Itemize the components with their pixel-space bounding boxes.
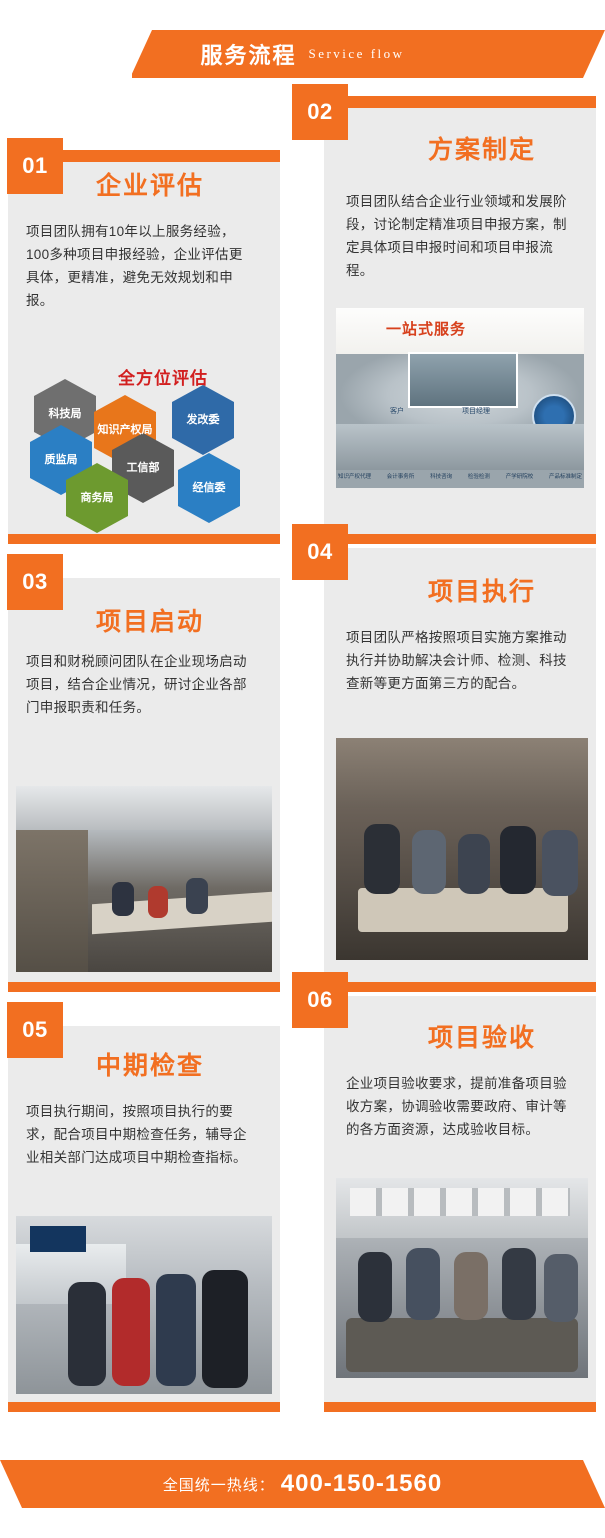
header-title-en: Service flow [308, 46, 404, 62]
step-04-photo-person-e [542, 830, 578, 896]
step-02-photo-label: 一站式服务 [386, 318, 466, 339]
step-card-03: 03 项目启动 项目和财税顾问团队在企业现场启动项目，结合企业情况，研讨企业各部… [8, 578, 280, 982]
step-02-bottom-label-1: 会计事务所 [387, 472, 415, 480]
step-03-photo-ceiling [16, 786, 272, 830]
step-05-title: 中期检查 [96, 1046, 204, 1082]
step-04-photo-person-c [458, 834, 490, 894]
step-card-02: 02 方案制定 项目团队结合企业行业领域和发展阶段，讨论制定精准项目申报方案，制… [324, 108, 596, 534]
hex-node-6: 经信委 [178, 470, 240, 506]
step-02-bottom-label-3: 检验检测 [468, 472, 490, 480]
step-05-photo-person-d [202, 1270, 248, 1388]
step-06-number-badge: 06 [292, 972, 348, 1028]
step-02-accent-top [324, 96, 596, 108]
step-03-number: 03 [22, 569, 47, 595]
step-01-title: 企业评估 [96, 166, 204, 202]
step-02-photo-bottom-strip [336, 424, 584, 470]
step-06-illustration [336, 1178, 588, 1378]
hex-node-5: 商务局 [66, 480, 128, 516]
step-05-body: 项目执行期间，按照项目执行的要求，配合项目中期检查任务，辅导企业相关部门达成项目… [26, 1100, 256, 1169]
step-01-number: 01 [22, 153, 47, 179]
step-04-title: 项目执行 [428, 572, 536, 608]
header-title-cn: 服务流程 [200, 38, 296, 70]
step-card-06: 06 项目验收 企业项目验收要求，提前准备项目验收方案，协调验收需要政府、审计等… [324, 996, 596, 1402]
step-05-photo-person-a [68, 1282, 106, 1386]
step-06-number: 06 [307, 987, 332, 1013]
step-04-photo-person-d [500, 826, 536, 894]
step-02-photo-center-scene [408, 352, 518, 408]
step-02-illustration: 一站式服务 客户 项目经理 知识产权代理 会计事务所 科技咨询 检验检测 产学研… [336, 308, 584, 488]
step-04-number-badge: 04 [292, 524, 348, 580]
step-02-bottom-label-0: 知识产权代理 [338, 472, 371, 480]
step-card-04: 04 项目执行 项目团队严格按照项目实施方案推动执行并协助解决会计师、检测、科技… [324, 548, 596, 982]
step-01-illustration: 全方位评估 科技局 知识产权局 发改委 质监局 工信部 商务局 经信委 [20, 358, 268, 522]
step-05-photo-person-c [156, 1274, 196, 1386]
step-05-number-badge: 05 [7, 1002, 63, 1058]
connector-strip-right-3 [324, 1402, 596, 1412]
step-05-number: 05 [22, 1017, 47, 1043]
connector-strip-right-2 [324, 982, 596, 992]
header-title: 服务流程 Service flow [0, 30, 605, 78]
step-06-photo-person-e [544, 1254, 578, 1322]
step-06-photo-person-b [406, 1248, 440, 1320]
step-06-photo-table [346, 1318, 578, 1372]
step-02-body: 项目团队结合企业行业领域和发展阶段，讨论制定精准项目申报方案，制定具体项目申报时… [346, 190, 574, 282]
step-06-photo-person-a [358, 1252, 392, 1322]
footer-hotline-number: 400-150-1560 [281, 1470, 442, 1498]
step-card-01: 01 企业评估 项目团队拥有10年以上服务经验，100多种项目申报经验，企业评估… [8, 162, 280, 534]
step-02-bottom-label-5: 产品标准制定 [549, 472, 582, 480]
step-card-05: 05 中期检查 项目执行期间，按照项目执行的要求，配合项目中期检查任务，辅导企业… [8, 1026, 280, 1402]
step-03-number-badge: 03 [7, 554, 63, 610]
step-04-number: 04 [307, 539, 332, 565]
step-01-body: 项目团队拥有10年以上服务经验，100多种项目申报经验，企业评估更具体，更精准，… [26, 220, 254, 312]
step-05-photo-person-b [112, 1278, 150, 1386]
step-02-title: 方案制定 [428, 130, 536, 166]
footer-hotline-label: 全国统一热线： [163, 1474, 275, 1495]
page-footer: 全国统一热线： 400-150-1560 [0, 1446, 605, 1538]
step-03-title: 项目启动 [96, 602, 204, 638]
step-04-photo-person-a [364, 824, 400, 894]
step-04-photo-wall [336, 738, 588, 808]
step-03-body: 项目和财税顾问团队在企业现场启动项目，结合企业情况，研讨企业各部门申报职责和任务… [26, 650, 254, 719]
page-header: 服务流程 Service flow [0, 0, 605, 92]
step-02-node-customer: 客户 [390, 406, 404, 416]
step-06-body: 企业项目验收要求，提前准备项目验收方案，协调验收需要政府、审计等的各方面资源，达… [346, 1072, 572, 1141]
connector-strip-left-1 [8, 534, 280, 544]
connector-strip-right-1 [324, 534, 596, 544]
step-06-photo-person-d [502, 1248, 536, 1320]
step-03-photo-person-a [112, 882, 134, 916]
step-02-number: 02 [307, 99, 332, 125]
step-02-number-badge: 02 [292, 84, 348, 140]
step-06-title: 项目验收 [428, 1018, 536, 1054]
step-02-bottom-labels: 知识产权代理 会计事务所 科技咨询 检验检测 产学研院校 产品标准制定 [338, 472, 582, 480]
step-05-photo-screen [30, 1226, 86, 1252]
step-06-photo-person-c [454, 1252, 488, 1320]
step-04-body: 项目团队严格按照项目实施方案推动执行并协助解决会计师、检测、科技查新等更方面第三… [346, 626, 572, 695]
footer-hotline: 全国统一热线： 400-150-1560 [0, 1460, 605, 1508]
step-04-photo-person-b [412, 830, 446, 894]
step-01-number-badge: 01 [7, 138, 63, 194]
step-06-photo-frames [350, 1188, 570, 1216]
step-03-photo-person-b [148, 886, 168, 918]
hex-node-2: 发改委 [172, 402, 234, 438]
step-02-bottom-label-4: 产学研院校 [506, 472, 534, 480]
step-04-photo-table [358, 888, 568, 932]
connector-strip-left-2 [8, 982, 280, 992]
step-03-illustration [16, 786, 272, 972]
step-02-node-manager: 项目经理 [462, 406, 490, 416]
step-02-bottom-label-2: 科技咨询 [430, 472, 452, 480]
connector-strip-left-3 [8, 1402, 280, 1412]
step-05-illustration [16, 1216, 272, 1394]
step-03-photo-wall [16, 830, 88, 972]
step-04-illustration [336, 738, 588, 960]
step-03-photo-person-c [186, 878, 208, 914]
